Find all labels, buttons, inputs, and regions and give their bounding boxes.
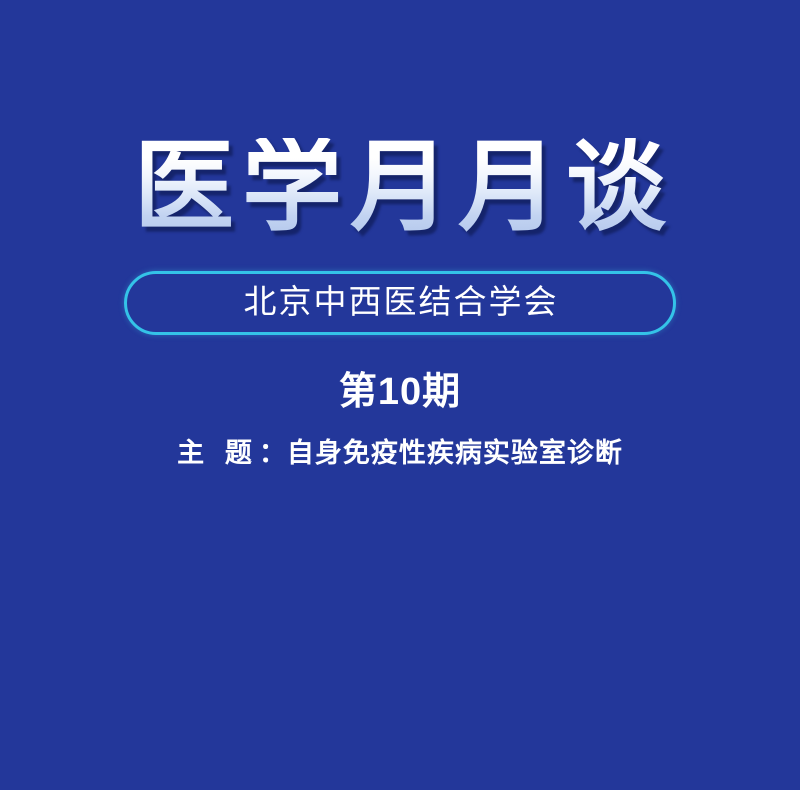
organization-badge: 北京中西医结合学会 [124,271,676,335]
theme-label: 主 题 [177,438,259,468]
poster-canvas: 医学月月谈 医学月月谈 北京中西医结合学会 第10期 主 题：自身免疫性疾病实验… [0,0,800,790]
theme-value: 自身免疫性疾病实验室诊断 [287,438,623,468]
theme-separator: ： [259,438,287,468]
poster-title: 医学月月谈 医学月月谈 [0,128,800,248]
theme-line: 主 题：自身免疫性疾病实验室诊断 [0,439,800,469]
issue-number: 第10期 [0,373,800,411]
poster-empty-lower-area [0,490,800,790]
organization-name: 北京中西医结合学会 [242,287,559,320]
poster-title-text: 医学月月谈 [126,138,674,238]
